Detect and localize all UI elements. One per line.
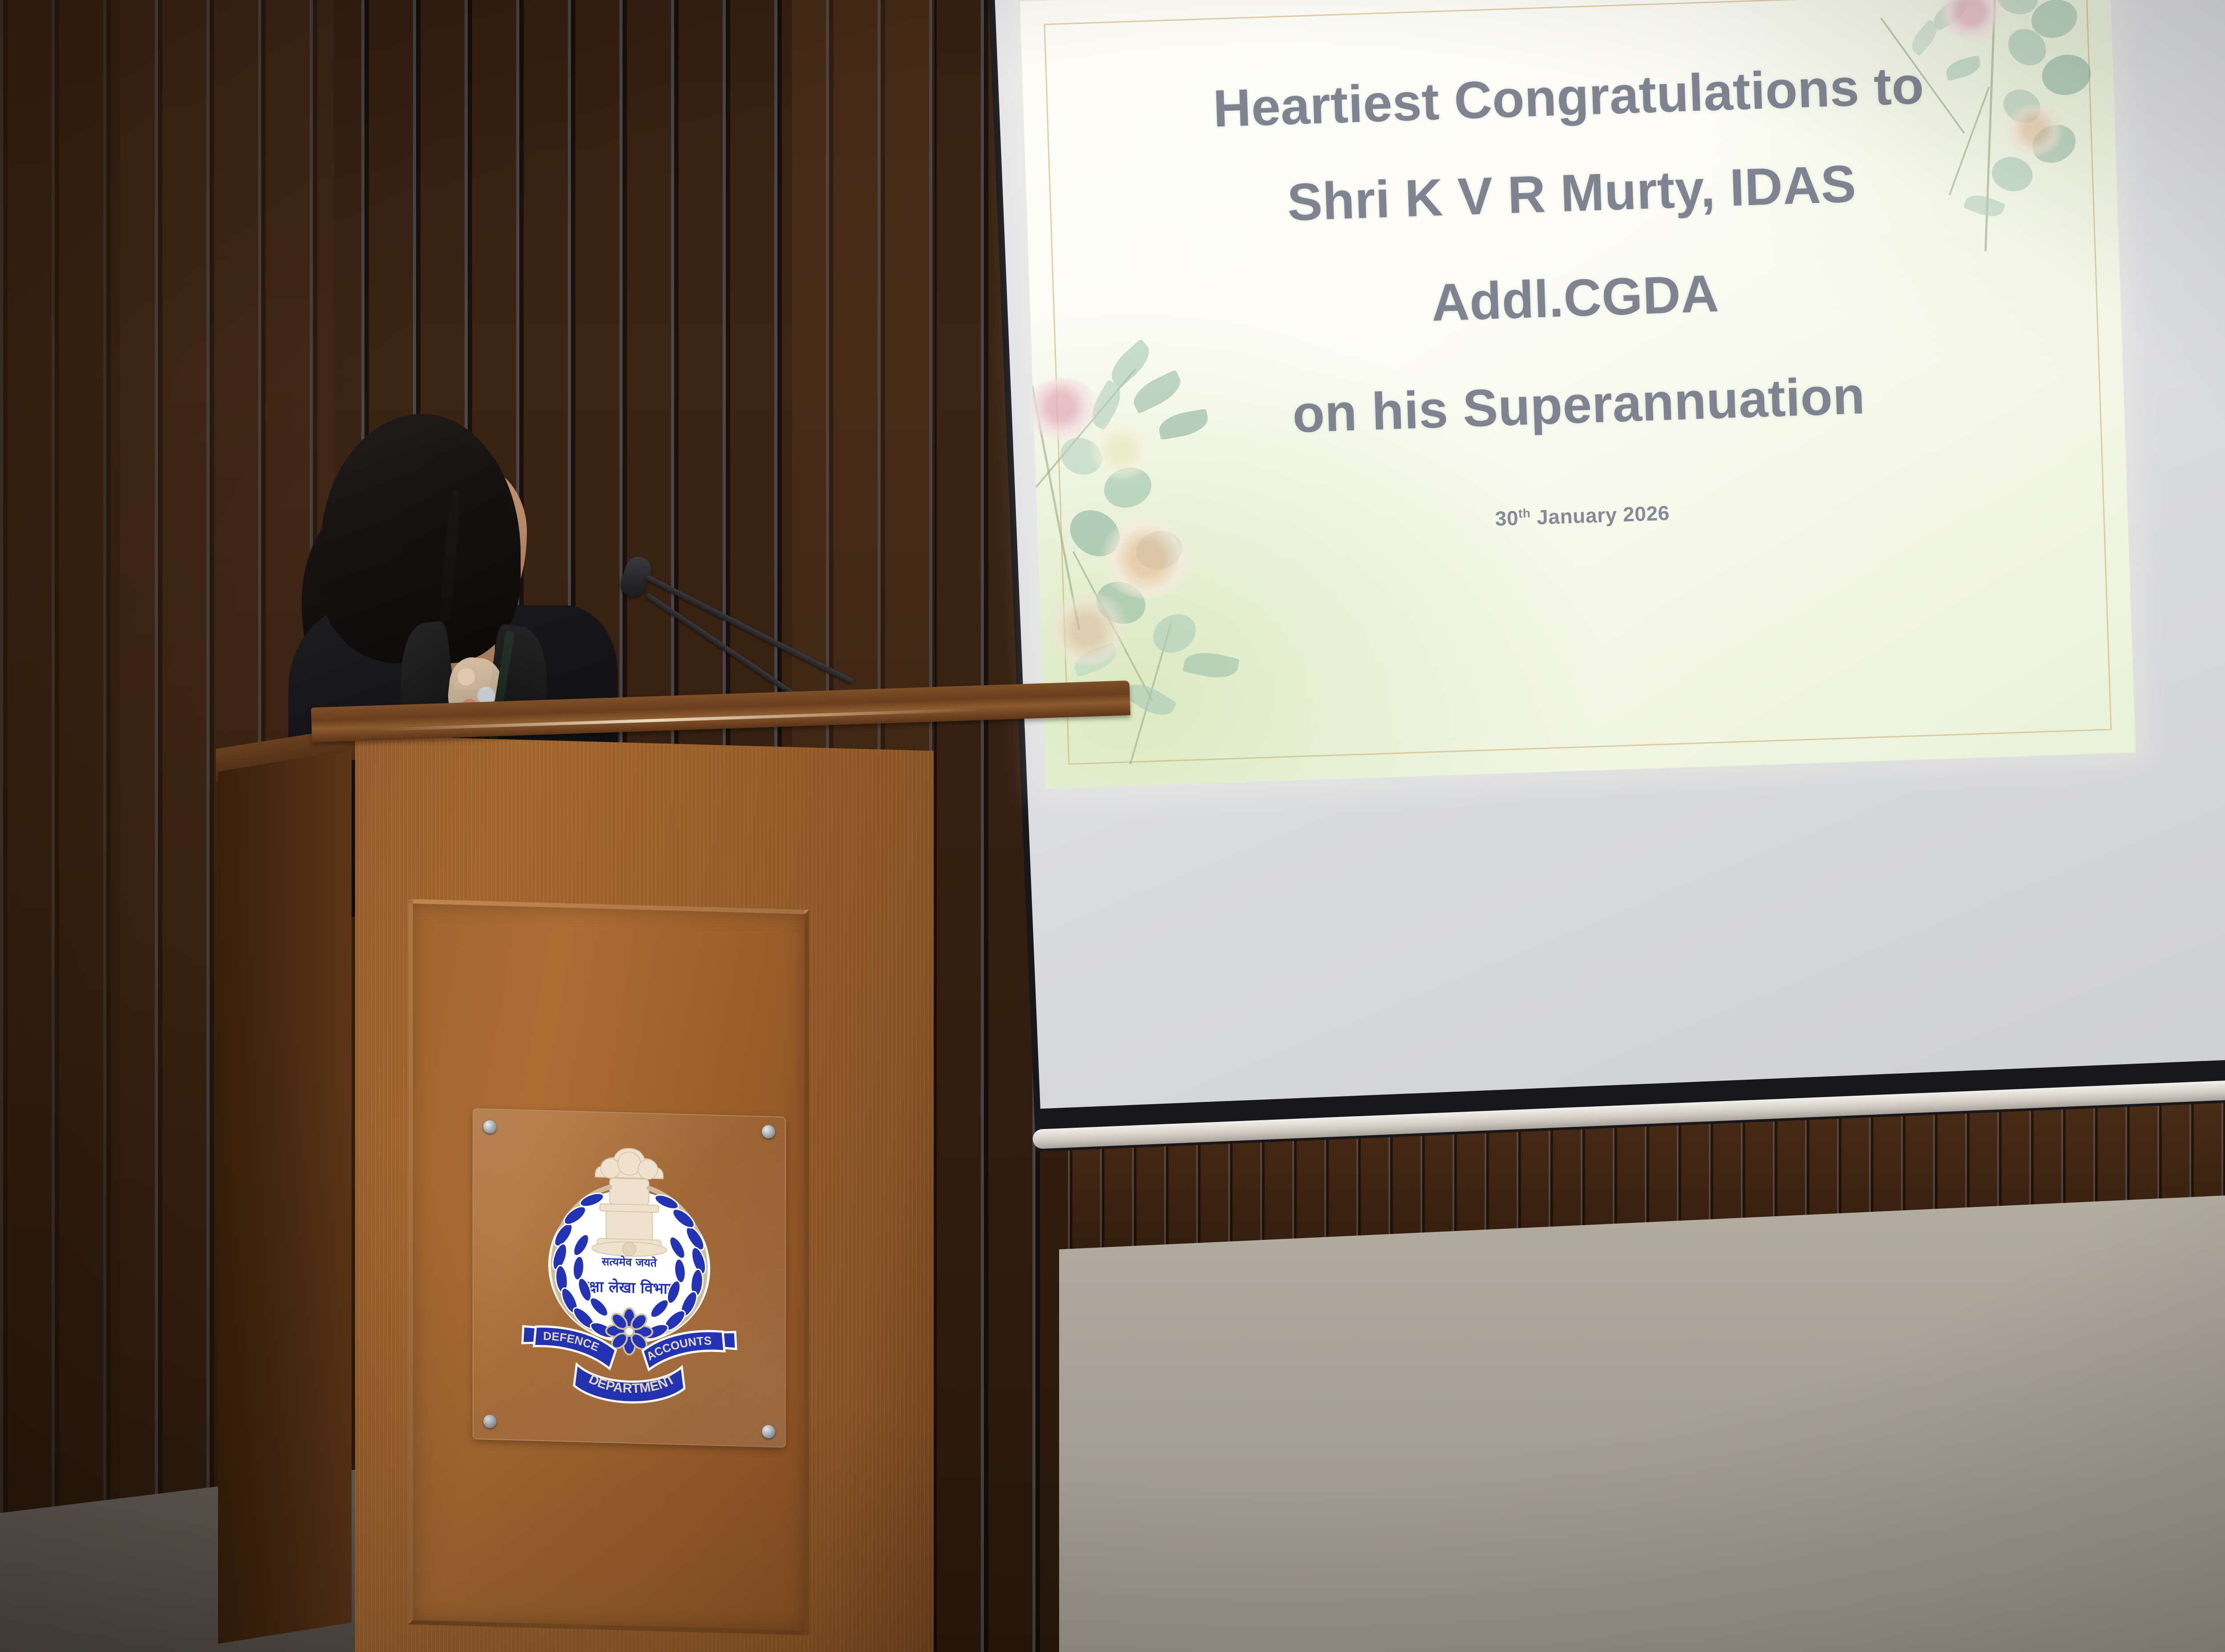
podium-side	[218, 750, 352, 1644]
plaque-bolt-bottom-right	[762, 1425, 775, 1439]
emblem-name-hindi: रक्षा लेखा विभाग	[582, 1277, 677, 1298]
floor-surface	[1059, 1184, 2225, 1652]
acrylic-emblem-plaque: सत्यमेव जयते रक्षा लेखा विभाग	[473, 1108, 786, 1448]
slide-date-ordinal: th	[1518, 506, 1531, 520]
emblem-motto: सत्यमेव जयते	[601, 1255, 657, 1269]
banner-department: DEPARTMENT	[574, 1364, 684, 1404]
slide-date-rest: January 2026	[1530, 501, 1670, 529]
podium: सत्यमेव जयते रक्षा लेखा विभाग	[311, 708, 1130, 1652]
plaque-bolt-top-right	[762, 1125, 775, 1139]
slide-date-day: 30	[1495, 506, 1519, 530]
projection-screen: Heartiest Congratulations to Shri K V R …	[988, 0, 2225, 1152]
wall-shadow-zone-left	[0, 0, 120, 1652]
plaque-bolt-top-left	[483, 1120, 497, 1134]
defence-accounts-department-emblem: सत्यमेव जयते रक्षा लेखा विभाग	[505, 1134, 754, 1408]
presentation-slide: Heartiest Congratulations to Shri K V R …	[1020, 0, 2136, 789]
plaque-bolt-bottom-left	[483, 1415, 497, 1429]
event-photograph: Heartiest Congratulations to Shri K V R …	[0, 0, 2225, 1652]
